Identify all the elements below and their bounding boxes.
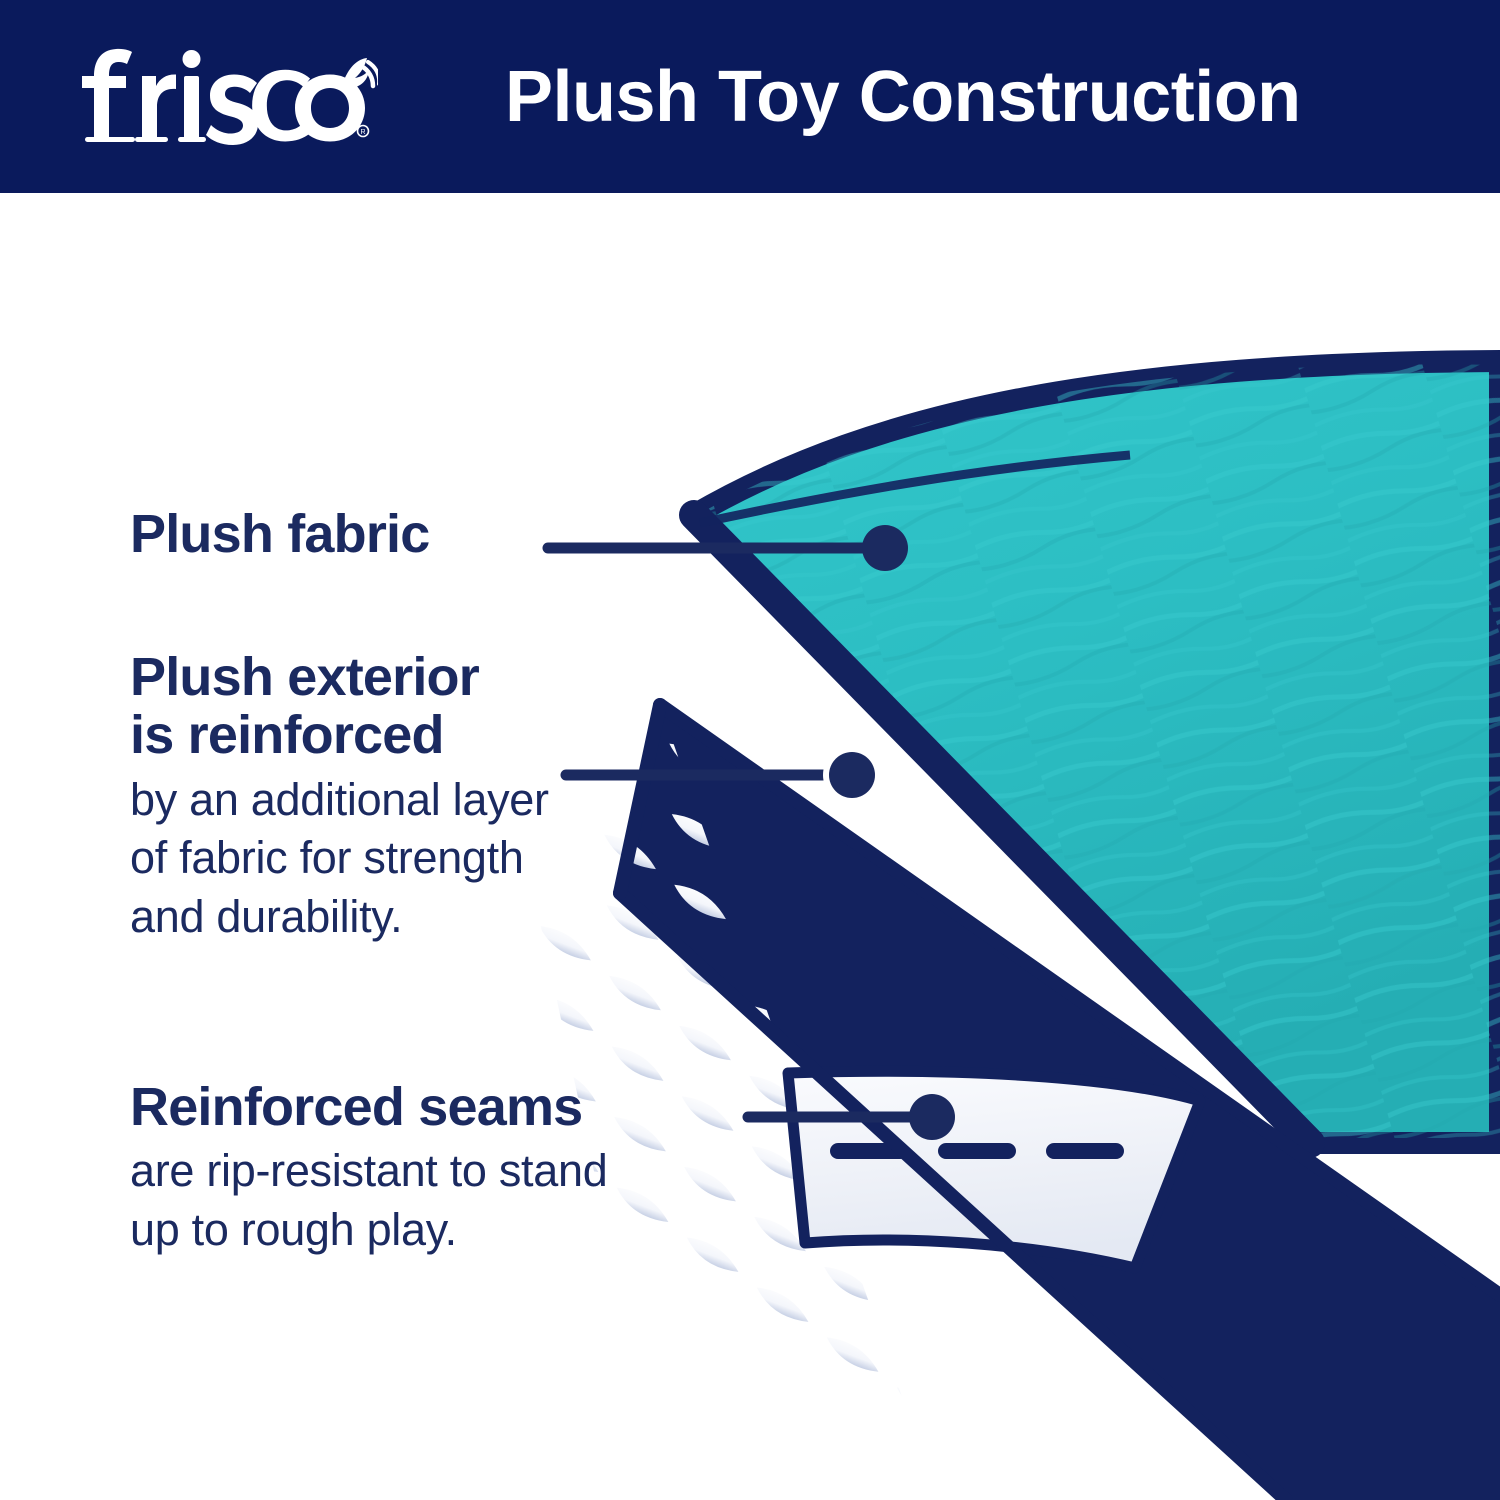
svg-text:R: R (360, 129, 365, 136)
callout-plush-fabric: Plush fabric (130, 505, 560, 563)
leader-dot-reinforced-seams (909, 1094, 955, 1140)
frisco-logo: R (78, 40, 378, 150)
callout-plush-fabric-heading: Plush fabric (130, 505, 560, 563)
infographic-page: R Plush Toy Construction (0, 0, 1500, 1500)
callout-plush-exterior-body: by an additional layer of fabric for str… (130, 771, 730, 947)
callout-reinforced-seams: Reinforced seams are rip-resistant to st… (130, 1078, 790, 1259)
callout-reinforced-seams-body: are rip-resistant to stand up to rough p… (130, 1142, 790, 1259)
page-title: Plush Toy Construction (505, 0, 1301, 193)
leader-dot-plush-exterior (829, 752, 875, 798)
header-bar: R Plush Toy Construction (0, 0, 1500, 193)
callout-reinforced-seams-heading: Reinforced seams (130, 1078, 790, 1136)
callout-plush-exterior-heading: Plush exterior is reinforced (130, 648, 730, 765)
callout-plush-exterior: Plush exterior is reinforced by an addit… (130, 648, 730, 946)
leader-dot-plush-fabric (862, 525, 908, 571)
